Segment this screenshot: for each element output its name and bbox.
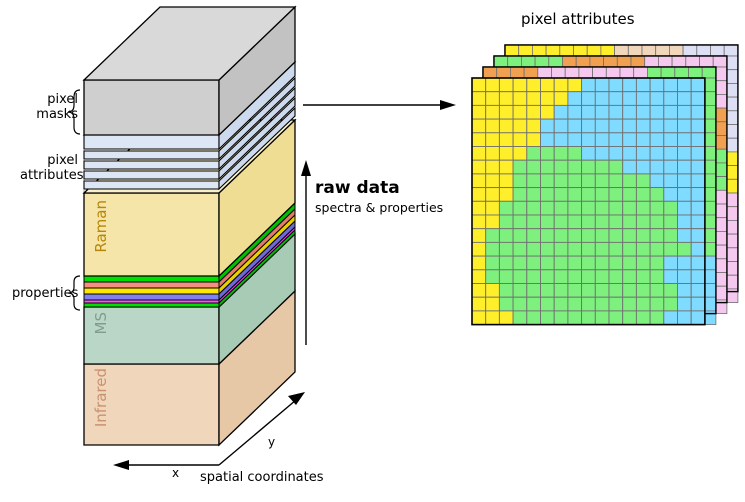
heatmap-cell — [582, 78, 596, 92]
heatmap-cell — [609, 256, 623, 270]
heatmap-cell — [664, 311, 678, 325]
heatmap-cell — [623, 147, 637, 161]
heatmap-cell — [609, 160, 623, 174]
heatmap-cell — [650, 188, 664, 202]
heatmap-cell — [554, 297, 568, 311]
heatmap-cell — [554, 242, 568, 256]
heatmap-cell — [568, 311, 582, 325]
heatmap-cell — [609, 284, 623, 298]
heatmap-cell — [527, 160, 541, 174]
heatmap-cell — [582, 284, 596, 298]
heatmap-cell — [527, 229, 541, 243]
heatmap-cell — [623, 270, 637, 284]
heatmap-cell — [582, 147, 596, 161]
heatmap-cell — [472, 133, 486, 147]
heatmap-cell — [691, 105, 705, 119]
heatmap-cell — [636, 215, 650, 229]
heatmap-cell — [623, 229, 637, 243]
heatmap-cell — [636, 174, 650, 188]
heatmap-cell — [650, 133, 664, 147]
heatmap-cell — [499, 119, 513, 133]
heatmap-cell — [499, 242, 513, 256]
heatmap-cell — [691, 147, 705, 161]
heatmap-cell — [582, 256, 596, 270]
heatmap-cell — [527, 201, 541, 215]
heatmap-cell — [636, 270, 650, 284]
heatmap-cell — [513, 270, 527, 284]
heatmap-cell — [541, 92, 555, 106]
heatmap-cell — [664, 78, 678, 92]
heatmap-cell — [486, 105, 500, 119]
heatmap-cell — [678, 133, 692, 147]
heatmap-cell — [472, 270, 486, 284]
heatmap-cell — [623, 256, 637, 270]
heatmap-cell — [595, 147, 609, 161]
heatmap-cell — [499, 270, 513, 284]
heatmap-cell — [527, 297, 541, 311]
heatmap-cell — [650, 147, 664, 161]
heatmap-cell — [582, 270, 596, 284]
heatmap-cell — [650, 92, 664, 106]
heatmap-cell — [650, 311, 664, 325]
label-raw-data: raw data — [315, 178, 400, 198]
heatmap-cell — [595, 229, 609, 243]
heatmap-cell — [691, 229, 705, 243]
heatmap-cell — [541, 78, 555, 92]
heatmap-cell — [623, 174, 637, 188]
heatmap-cell — [609, 119, 623, 133]
heatmap-cell — [623, 78, 637, 92]
heatmap-cell — [678, 297, 692, 311]
heatmap-cell — [554, 147, 568, 161]
heatmap-cell — [650, 297, 664, 311]
heatmap-cell — [636, 311, 650, 325]
heatmap-cell — [636, 160, 650, 174]
heatmap-cell — [650, 119, 664, 133]
heatmap-cell — [595, 174, 609, 188]
heatmap-cell — [582, 92, 596, 106]
heatmap-cell — [650, 256, 664, 270]
heatmap-cell — [472, 201, 486, 215]
heatmap-cell — [499, 297, 513, 311]
heatmap-cell — [568, 284, 582, 298]
heatmap-cell — [541, 270, 555, 284]
heatmap-cell — [554, 78, 568, 92]
heatmap-cell — [513, 78, 527, 92]
heatmap-cell — [636, 297, 650, 311]
heatmap-cell — [568, 147, 582, 161]
cube-label-ms: MS — [92, 312, 110, 334]
heatmap-cell — [541, 119, 555, 133]
heatmap-cell — [513, 92, 527, 106]
heatmap-cell — [472, 92, 486, 106]
raw-data-arrow — [301, 160, 311, 345]
heatmap-cell — [650, 284, 664, 298]
heatmap-cell — [650, 229, 664, 243]
heatmap-cell — [582, 201, 596, 215]
heatmap-cell — [541, 160, 555, 174]
heatmap-cell — [595, 311, 609, 325]
heatmap-cell — [582, 297, 596, 311]
heatmap-cell — [678, 270, 692, 284]
heatmap-cell — [623, 311, 637, 325]
heatmap-cell — [595, 188, 609, 202]
heatmap-cell — [609, 215, 623, 229]
heatmap-cell — [499, 201, 513, 215]
attribute-layer-front — [472, 78, 705, 325]
label-raw-data-sub: spectra & properties — [315, 200, 443, 215]
heatmap-cell — [554, 105, 568, 119]
heatmap-cell — [554, 229, 568, 243]
heatmap-cell — [623, 201, 637, 215]
heatmap-cell — [609, 147, 623, 161]
heatmap-cell — [499, 256, 513, 270]
heatmap-cell — [513, 105, 527, 119]
label-pixel-masks: pixel masks — [33, 92, 78, 122]
label-spatial-coordinates: spatial coordinates — [200, 470, 324, 485]
heatmap-cell — [554, 92, 568, 106]
heatmap-cell — [623, 242, 637, 256]
heatmap-cell — [541, 311, 555, 325]
label-x-axis: x — [172, 466, 179, 480]
heatmap-cell — [527, 188, 541, 202]
heatmap-cell — [582, 188, 596, 202]
heatmap-cell — [472, 311, 486, 325]
cube-label-raman: Raman — [92, 200, 110, 253]
heatmap-cell — [595, 133, 609, 147]
heatmap-cell — [582, 174, 596, 188]
heatmap-cell — [595, 105, 609, 119]
heatmap-cell — [636, 284, 650, 298]
heatmap-cell — [527, 256, 541, 270]
heatmap-cell — [664, 256, 678, 270]
heatmap-cell — [527, 284, 541, 298]
cube-label-infrared: Infrared — [92, 368, 110, 427]
label-properties: properties — [12, 286, 78, 301]
heatmap-cell — [486, 215, 500, 229]
heatmap-cell — [513, 174, 527, 188]
heatmap-cell — [636, 92, 650, 106]
heatmap-cell — [623, 188, 637, 202]
heatmap-cell — [595, 297, 609, 311]
heatmap-cell — [486, 229, 500, 243]
heatmap-cell — [664, 92, 678, 106]
heatmap-cell — [527, 215, 541, 229]
transform-arrow — [303, 100, 456, 110]
heatmap-cell — [664, 147, 678, 161]
heatmap-cell — [691, 242, 705, 256]
heatmap-cell — [609, 105, 623, 119]
heatmap-cell — [609, 201, 623, 215]
heatmap-cell — [636, 147, 650, 161]
heatmap-cell — [541, 297, 555, 311]
heatmap-cell — [595, 78, 609, 92]
heatmap-cell — [568, 92, 582, 106]
heatmap-cell — [527, 119, 541, 133]
heatmap-cell — [623, 297, 637, 311]
heatmap-cell — [486, 78, 500, 92]
heatmap-cell — [582, 133, 596, 147]
heatmap-cell — [554, 201, 568, 215]
heatmap-cell — [678, 229, 692, 243]
heatmap-cell — [595, 284, 609, 298]
heatmap-cell — [623, 215, 637, 229]
heatmap-cell — [664, 215, 678, 229]
heatmap-cell — [527, 147, 541, 161]
heatmap-cell — [582, 105, 596, 119]
label-y-axis: y — [268, 435, 275, 449]
heatmap-cell — [554, 133, 568, 147]
heatmap-cell — [678, 174, 692, 188]
heatmap-cell — [678, 311, 692, 325]
pixel-attributes-title: pixel attributes — [521, 10, 635, 28]
heatmap-cell — [678, 92, 692, 106]
heatmap-cell — [486, 242, 500, 256]
heatmap-cell — [582, 229, 596, 243]
heatmap-cell — [513, 133, 527, 147]
heatmap-cell — [691, 160, 705, 174]
heatmap-cell — [486, 311, 500, 325]
heatmap-cell — [499, 105, 513, 119]
heatmap-cell — [499, 229, 513, 243]
heatmap-cell — [486, 92, 500, 106]
heatmap-cell — [554, 160, 568, 174]
heatmap-cell — [650, 270, 664, 284]
heatmap-cell — [664, 229, 678, 243]
heatmap-cell — [472, 284, 486, 298]
heatmap-cell — [554, 256, 568, 270]
heatmap-cell — [691, 78, 705, 92]
heatmap-cell — [636, 201, 650, 215]
heatmap-cell — [678, 188, 692, 202]
heatmap-cell — [541, 229, 555, 243]
heatmap-cell — [650, 215, 664, 229]
heatmap-cell — [678, 105, 692, 119]
heatmap-cell — [541, 284, 555, 298]
heatmap-cell — [691, 215, 705, 229]
heatmap-cell — [513, 284, 527, 298]
heatmap-cell — [582, 215, 596, 229]
heatmap-cell — [513, 147, 527, 161]
heatmap-cell — [595, 119, 609, 133]
heatmap-cell — [595, 242, 609, 256]
heatmap-cell — [499, 174, 513, 188]
heatmap-cell — [486, 201, 500, 215]
heatmap-cell — [664, 160, 678, 174]
heatmap-cell — [527, 174, 541, 188]
heatmap-cell — [595, 270, 609, 284]
heatmap-cell — [568, 188, 582, 202]
heatmap-cell — [486, 256, 500, 270]
heatmap-cell — [568, 105, 582, 119]
heatmap-cell — [595, 215, 609, 229]
heatmap-cell — [513, 188, 527, 202]
heatmap-cell — [541, 242, 555, 256]
heatmap-cell — [486, 284, 500, 298]
heatmap-cell — [527, 270, 541, 284]
heatmap-cell — [636, 78, 650, 92]
heatmap-cell — [568, 256, 582, 270]
heatmap-cell — [595, 92, 609, 106]
heatmap-cell — [568, 160, 582, 174]
heatmap-cell — [609, 92, 623, 106]
heatmap-cell — [595, 160, 609, 174]
heatmap-cell — [650, 242, 664, 256]
heatmap-cell — [691, 297, 705, 311]
heatmap-cell — [513, 311, 527, 325]
heatmap-cell — [568, 174, 582, 188]
heatmap-cell — [499, 147, 513, 161]
heatmap-cell — [582, 160, 596, 174]
heatmap-cell — [609, 311, 623, 325]
heatmap-cell — [691, 92, 705, 106]
heatmap-cell — [513, 256, 527, 270]
heatmap-cell — [609, 78, 623, 92]
heatmap-cell — [623, 105, 637, 119]
heatmap-cell — [636, 119, 650, 133]
heatmap-cell — [513, 229, 527, 243]
heatmap-cell — [568, 133, 582, 147]
heatmap-cell — [609, 242, 623, 256]
heatmap-cell — [636, 229, 650, 243]
heatmap-cell — [527, 242, 541, 256]
heatmap-cell — [636, 188, 650, 202]
heatmap-cell — [499, 188, 513, 202]
heatmap-cell — [636, 133, 650, 147]
heatmap-cell — [472, 256, 486, 270]
heatmap-cell — [527, 105, 541, 119]
heatmap-cell — [472, 160, 486, 174]
heatmap-cell — [664, 242, 678, 256]
heatmap-cell — [499, 160, 513, 174]
heatmap-cell — [472, 174, 486, 188]
heatmap-cell — [678, 284, 692, 298]
heatmap-cell — [568, 270, 582, 284]
heatmap-cell — [554, 174, 568, 188]
heatmap-cell — [499, 92, 513, 106]
heatmap-cell — [568, 215, 582, 229]
heatmap-cell — [609, 297, 623, 311]
heatmap-cell — [472, 215, 486, 229]
label-pixel-attributes: pixel attributes — [20, 153, 78, 183]
heatmap-cell — [664, 188, 678, 202]
heatmap-cell — [499, 78, 513, 92]
heatmap-cell — [664, 284, 678, 298]
heatmap-cell — [554, 188, 568, 202]
heatmap-cell — [499, 311, 513, 325]
heatmap-cell — [664, 297, 678, 311]
heatmap-cell — [472, 119, 486, 133]
heatmap-cell — [568, 201, 582, 215]
heatmap-cell — [609, 229, 623, 243]
heatmap-cell — [664, 133, 678, 147]
heatmap-cell — [582, 311, 596, 325]
heatmap-cell — [568, 119, 582, 133]
heatmap-cell — [623, 119, 637, 133]
heatmap-cell — [595, 256, 609, 270]
heatmap-cell — [541, 215, 555, 229]
heatmap-cell — [541, 256, 555, 270]
heatmap-cell — [554, 119, 568, 133]
heatmap-cell — [582, 119, 596, 133]
heatmap-cell — [513, 297, 527, 311]
heatmap-cell — [568, 78, 582, 92]
heatmap-cell — [486, 133, 500, 147]
heatmap-cell — [691, 284, 705, 298]
heatmap-cell — [499, 284, 513, 298]
heatmap-cell — [486, 174, 500, 188]
heatmap-cell — [609, 174, 623, 188]
heatmap-cell — [691, 174, 705, 188]
heatmap-cell — [582, 242, 596, 256]
heatmap-cell — [486, 270, 500, 284]
heatmap-cell — [664, 105, 678, 119]
heatmap-cell — [623, 284, 637, 298]
heatmap-cell — [609, 188, 623, 202]
heatmap-cell — [513, 201, 527, 215]
heatmap-cell — [472, 78, 486, 92]
heatmap-cell — [513, 215, 527, 229]
heatmap-cell — [691, 311, 705, 325]
heatmap-cell — [623, 133, 637, 147]
heatmap-cell — [678, 215, 692, 229]
heatmap-cell — [609, 270, 623, 284]
heatmap-cell — [678, 78, 692, 92]
heatmap-cell — [486, 160, 500, 174]
heatmap-cell — [691, 133, 705, 147]
heatmap-cell — [691, 119, 705, 133]
heatmap-cell — [541, 188, 555, 202]
heatmap-cell — [691, 256, 705, 270]
heatmap-cell — [527, 92, 541, 106]
heatmap-cell — [486, 297, 500, 311]
heatmap-cell — [678, 242, 692, 256]
heatmap-cell — [513, 119, 527, 133]
heatmap-cell — [513, 242, 527, 256]
heatmap-cell — [636, 242, 650, 256]
heatmap-cell — [650, 160, 664, 174]
heatmap-cell — [527, 311, 541, 325]
heatmap-cell — [472, 147, 486, 161]
heatmap-cell — [650, 105, 664, 119]
heatmap-cell — [636, 105, 650, 119]
heatmap-cell — [568, 242, 582, 256]
heatmap-cell — [472, 188, 486, 202]
heatmap-cell — [554, 284, 568, 298]
heatmap-cell — [472, 242, 486, 256]
heatmap-cell — [541, 147, 555, 161]
heatmap-cell — [554, 215, 568, 229]
heatmap-cell — [541, 201, 555, 215]
heatmap-cell — [623, 92, 637, 106]
heatmap-cell — [486, 147, 500, 161]
heatmap-cell — [541, 105, 555, 119]
heatmap-cell — [650, 201, 664, 215]
heatmap-cell — [609, 133, 623, 147]
heatmap-cell — [541, 133, 555, 147]
heatmap-cell — [499, 133, 513, 147]
heatmap-cell — [513, 160, 527, 174]
heatmap-cell — [472, 297, 486, 311]
heatmap-cell — [678, 256, 692, 270]
heatmap-cell — [541, 174, 555, 188]
heatmap-cell — [691, 188, 705, 202]
heatmap-cell — [678, 160, 692, 174]
heatmap-cell — [486, 188, 500, 202]
heatmap-cell — [664, 270, 678, 284]
heatmap-cell — [527, 133, 541, 147]
heatmap-cell — [664, 119, 678, 133]
